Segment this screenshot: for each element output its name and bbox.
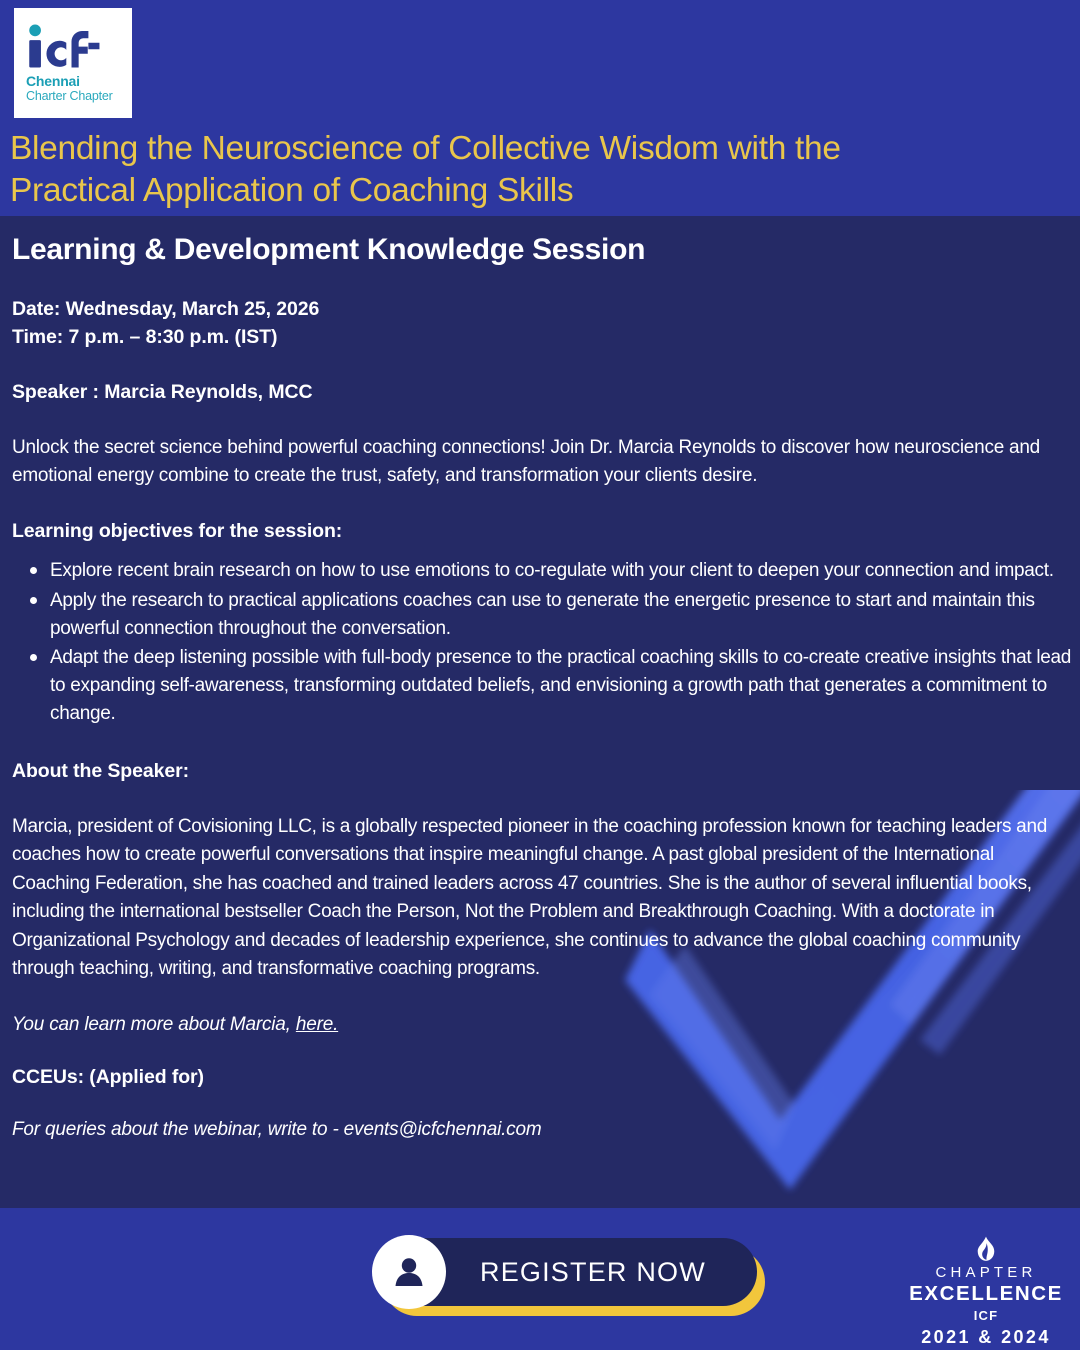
poster-body: Learning & Development Knowledge Session… <box>0 216 1080 1208</box>
learn-more-link[interactable]: here. <box>296 1014 338 1035</box>
objectives-heading: Learning objectives for the session: <box>12 520 1066 543</box>
poster-header: Chennai Charter Chapter Blending the Neu… <box>0 0 1080 216</box>
speaker-headshot <box>880 0 1080 216</box>
learn-more-line: You can learn more about Marcia, here. <box>12 1014 1066 1036</box>
person-icon <box>372 1235 446 1309</box>
badge-excellence-label: EXCELLENCE <box>909 1282 1063 1306</box>
register-now-area: REGISTER NOW <box>375 1238 765 1318</box>
logo-charter-chapter-label: Charter Chapter <box>26 89 113 104</box>
event-time: Time: 7 p.m. – 8:30 p.m. (IST) <box>12 324 1066 352</box>
session-title: Learning & Development Knowledge Session <box>12 232 1066 268</box>
event-date: Date: Wednesday, March 25, 2026 <box>12 296 1066 324</box>
list-item: Apply the research to practical applicat… <box>50 587 1080 642</box>
chapter-excellence-badge: CHAPTER EXCELLENCE ICF 2021 & 2024 <box>910 1236 1062 1348</box>
icf-chennai-logo: Chennai Charter Chapter <box>14 8 132 118</box>
poster-headline: Blending the Neuroscience of Collective … <box>10 128 890 211</box>
list-item: Explore recent brain research on how to … <box>50 557 1080 585</box>
about-speaker-heading: About the Speaker: <box>12 760 1066 783</box>
cceu-info: CCEUs: (Applied for) <box>12 1066 1066 1089</box>
intro-paragraph: Unlock the secret science behind powerfu… <box>12 434 1058 490</box>
speaker-name: Speaker : Marcia Reynolds, MCC <box>12 381 1066 404</box>
logo-chennai-label: Chennai <box>26 73 80 89</box>
register-now-button[interactable]: REGISTER NOW <box>375 1238 757 1306</box>
event-poster: Chennai Charter Chapter Blending the Neu… <box>0 0 1080 1350</box>
badge-icf-label: ICF <box>974 1308 999 1323</box>
objectives-list: Explore recent brain research on how to … <box>12 557 1066 727</box>
learn-more-text: You can learn more about Marcia, <box>12 1014 291 1035</box>
contact-line: For queries about the webinar, write to … <box>12 1119 1066 1141</box>
badge-years-label: 2021 & 2024 <box>921 1327 1051 1348</box>
badge-chapter-label: CHAPTER <box>935 1264 1036 1281</box>
icf-logo-mark-icon <box>26 22 104 70</box>
list-item: Adapt the deep listening possible with f… <box>50 644 1080 727</box>
flame-icon <box>966 1236 1006 1262</box>
register-button-label: REGISTER NOW <box>480 1257 706 1288</box>
speaker-bio: Marcia, president of Covisioning LLC, is… <box>12 813 1060 984</box>
